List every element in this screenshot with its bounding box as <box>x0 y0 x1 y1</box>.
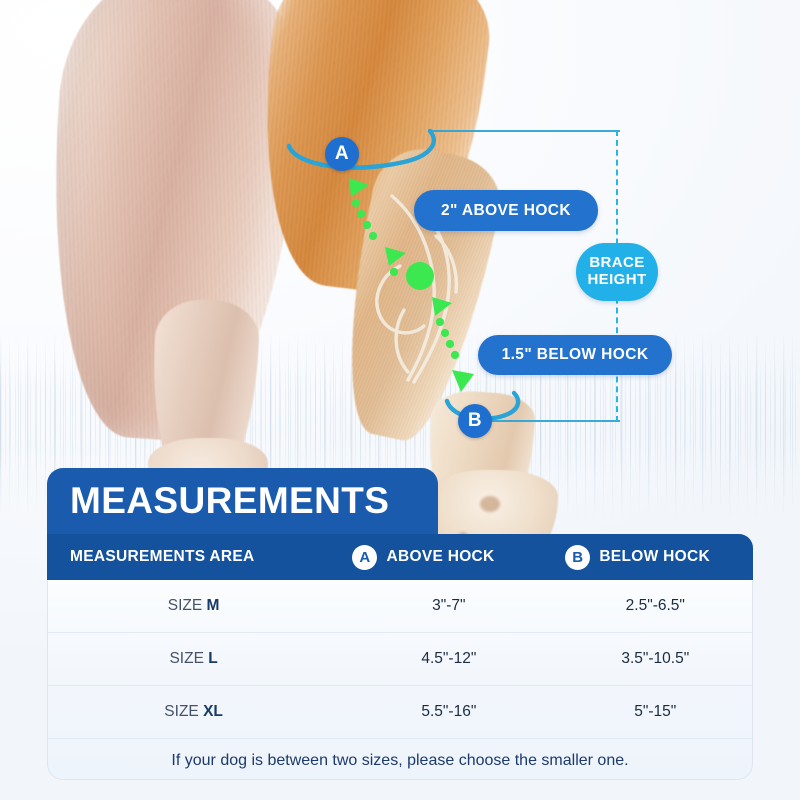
cell-below-hock: 5"-15" <box>559 703 752 721</box>
cell-size: SIZE M <box>48 597 339 615</box>
table-body: SIZE M 3"-7" 2.5"-6.5" SIZE L 4.5"-12" 3… <box>47 580 753 780</box>
column-header-area-label: MEASUREMENTS AREA <box>70 548 255 566</box>
callout-above-hock: 2" ABOVE HOCK <box>414 190 598 231</box>
marker-b-label: B <box>468 410 482 432</box>
sizing-note: If your dog is between two sizes, please… <box>48 739 752 780</box>
column-header-below-hock: B BELOW HOCK <box>565 545 753 570</box>
column-header-area: MEASUREMENTS AREA <box>47 548 352 566</box>
size-prefix: SIZE <box>164 703 203 720</box>
size-value: M <box>207 597 220 614</box>
card-title: MEASUREMENTS <box>47 480 389 522</box>
callout-brace-height: BRACE HEIGHT <box>576 243 658 301</box>
table-row: SIZE XL 5.5"-16" 5"-15" <box>48 686 752 739</box>
cell-size: SIZE L <box>48 650 339 668</box>
size-value: L <box>208 650 217 667</box>
marker-a: A <box>325 137 359 171</box>
card-title-banner: MEASUREMENTS <box>47 468 438 534</box>
column-header-above-hock: A ABOVE HOCK <box>352 545 565 570</box>
table-column-header: MEASUREMENTS AREA A ABOVE HOCK B BELOW H… <box>47 534 753 580</box>
infographic-canvas: A B 2" ABOVE HOCK 1.5" BELOW HOCK BRACE … <box>0 0 800 800</box>
callout-brace-height-line2: HEIGHT <box>587 272 646 289</box>
cell-above-hock: 4.5"-12" <box>339 650 558 668</box>
leader-line-bottom <box>492 420 620 422</box>
measurements-card: MEASUREMENTS MEASUREMENTS AREA A ABOVE H… <box>47 468 753 780</box>
column-header-below-hock-label: BELOW HOCK <box>599 548 710 566</box>
column-header-above-hock-label: ABOVE HOCK <box>386 548 494 566</box>
callout-above-hock-label: 2" ABOVE HOCK <box>441 202 571 220</box>
leader-line-top <box>430 130 620 132</box>
marker-b: B <box>458 404 492 438</box>
callout-below-hock-label: 1.5" BELOW HOCK <box>502 346 649 364</box>
cell-above-hock: 3"-7" <box>339 597 558 615</box>
chip-b: B <box>565 545 590 570</box>
table-row: SIZE M 3"-7" 2.5"-6.5" <box>48 580 752 633</box>
cell-below-hock: 3.5"-10.5" <box>559 650 752 668</box>
callout-below-hock: 1.5" BELOW HOCK <box>478 335 672 375</box>
cell-size: SIZE XL <box>48 703 339 721</box>
cell-above-hock: 5.5"-16" <box>339 703 558 721</box>
size-value: XL <box>203 703 223 720</box>
size-prefix: SIZE <box>169 650 208 667</box>
table-row: SIZE L 4.5"-12" 3.5"-10.5" <box>48 633 752 686</box>
marker-a-label: A <box>335 143 349 165</box>
callout-brace-height-line1: BRACE <box>589 255 644 272</box>
cell-below-hock: 2.5"-6.5" <box>559 597 752 615</box>
size-prefix: SIZE <box>168 597 207 614</box>
chip-a: A <box>352 545 377 570</box>
